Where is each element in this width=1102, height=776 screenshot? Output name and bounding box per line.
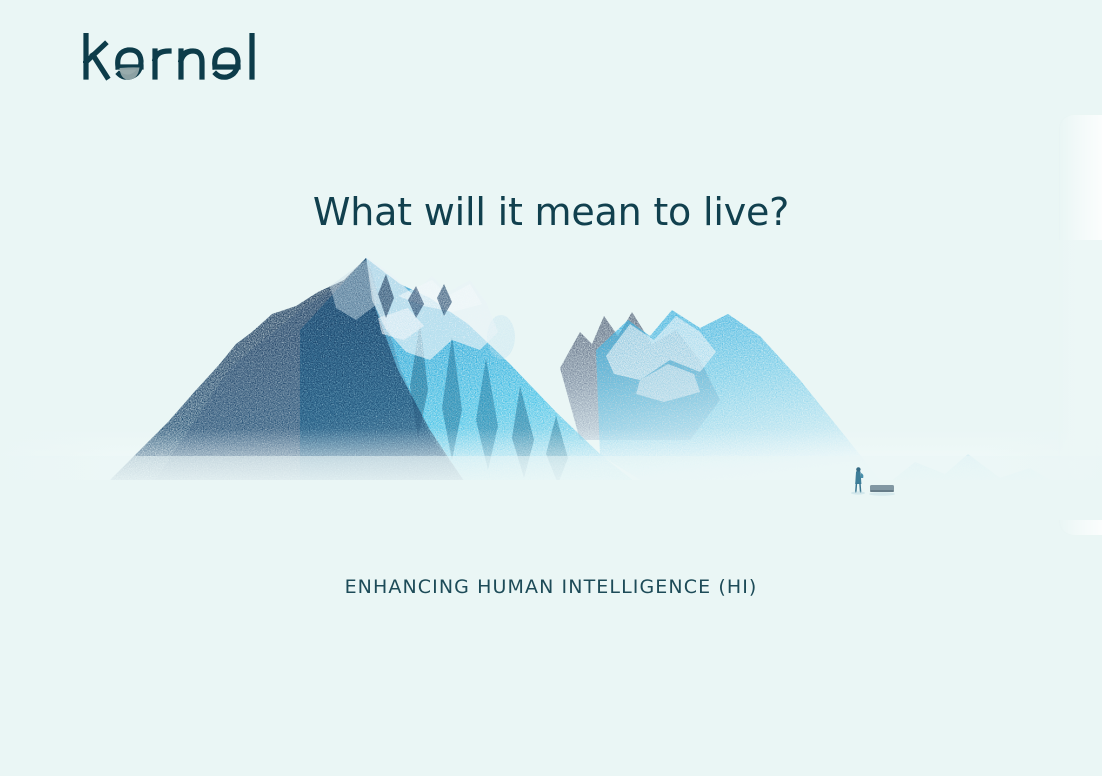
page-subtitle: ENHANCING HUMAN INTELLIGENCE (HI) xyxy=(0,575,1102,600)
page-title: What will it mean to live? xyxy=(0,188,1102,236)
mountain-illustration xyxy=(0,240,1102,520)
kernel-lens-logo[interactable]: kernel xyxy=(83,33,313,83)
sled-object xyxy=(869,485,895,496)
